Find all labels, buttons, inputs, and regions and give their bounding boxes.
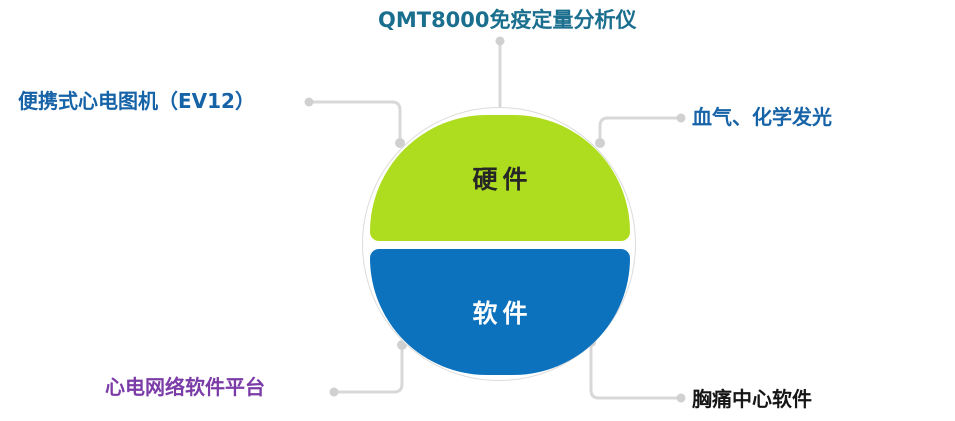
connector-dot-ecg-platform-label	[330, 388, 339, 397]
connector-dot-qmt8000-label	[496, 37, 505, 46]
center-hub: 硬件 软件	[362, 107, 638, 383]
hub-segment-hardware-label: 硬件	[467, 160, 532, 196]
diagram-canvas: 硬件 软件 QMT8000免疫定量分析仪 便携式心电图机（EV12） 血气、化学…	[0, 0, 955, 421]
label-qmt8000: QMT8000免疫定量分析仪	[378, 4, 637, 34]
connector-dot-chest-pain-label	[677, 394, 686, 403]
label-ecg-network-platform: 心电网络软件平台	[105, 371, 265, 400]
label-portable-ecg: 便携式心电图机（EV12）	[18, 85, 255, 114]
label-chest-pain-center: 胸痛中心软件	[692, 383, 812, 412]
label-blood-gas: 血气、化学发光	[692, 101, 832, 130]
connector-dot-blood-gas-label	[677, 114, 686, 123]
hub-segment-software[interactable]: 软件	[370, 249, 630, 375]
hub-segment-software-label: 软件	[467, 294, 532, 330]
connector-dot-portable-ecg-label	[305, 98, 314, 107]
hub-segment-hardware[interactable]: 硬件	[370, 115, 630, 241]
